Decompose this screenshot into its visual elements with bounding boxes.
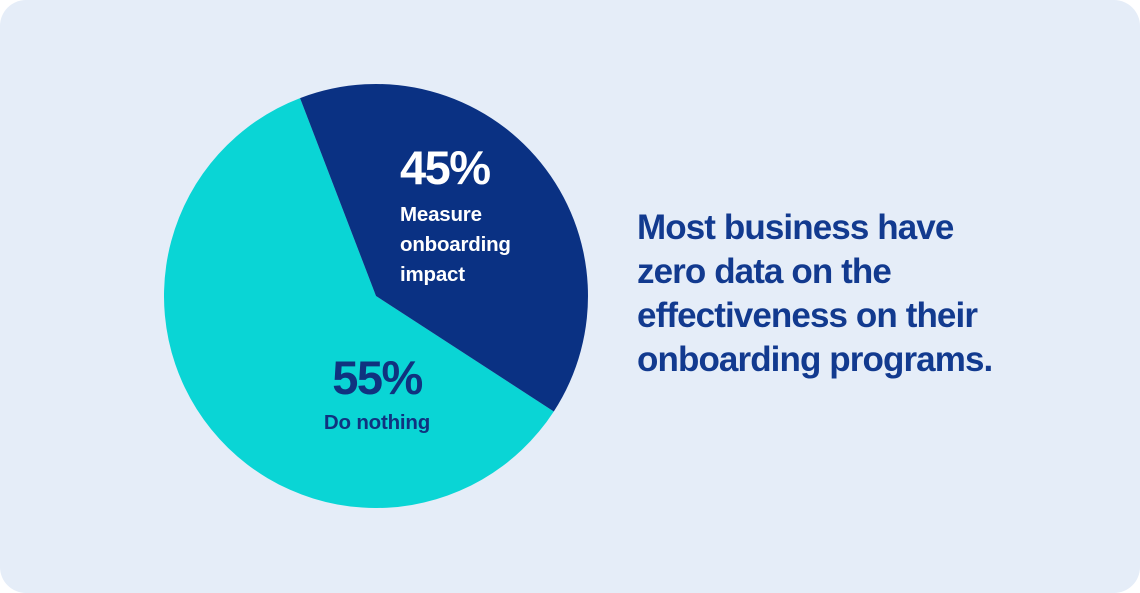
slice-label-do-nothing: 55% Do nothing: [277, 354, 477, 436]
slice-percent-measure: 45%: [400, 144, 560, 191]
infographic-canvas: 45% Measure onboarding impact 55% Do not…: [0, 0, 1140, 593]
slice-caption-measure-line-1: Measure: [400, 200, 560, 230]
slice-percent-do-nothing: 55%: [277, 354, 477, 401]
headline-line-2: zero data on the: [637, 250, 1029, 294]
slice-caption-measure-line-3: impact: [400, 260, 560, 290]
headline-line-3: effectiveness on their: [637, 294, 1029, 338]
slice-caption-measure-line-2: onboarding: [400, 230, 560, 260]
headline-line-4: onboarding programs.: [637, 338, 1029, 382]
headline-line-1: Most business have: [637, 206, 1029, 250]
pie-chart: 45% Measure onboarding impact 55% Do not…: [164, 84, 588, 508]
slice-caption-do-nothing: Do nothing: [277, 411, 477, 436]
slice-label-measure-onboarding-impact: 45% Measure onboarding impact: [400, 144, 560, 290]
headline-text: Most business have zero data on the effe…: [637, 206, 1029, 382]
statistic-card: 45% Measure onboarding impact 55% Do not…: [0, 0, 1140, 593]
